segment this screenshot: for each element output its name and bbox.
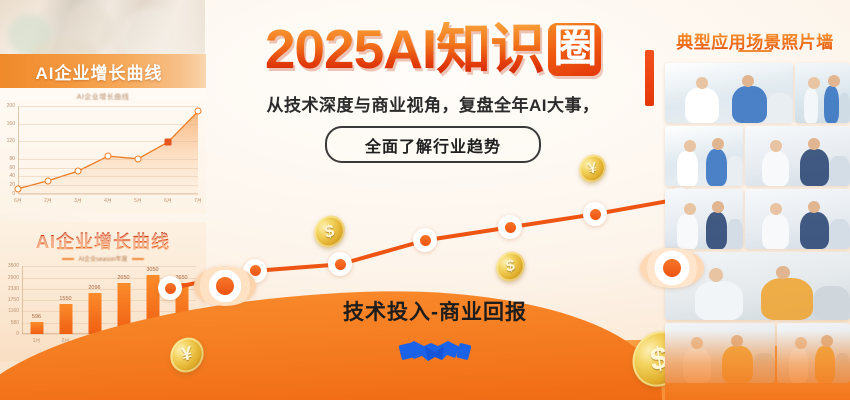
bar-chart-bar: 596 [30, 322, 43, 334]
bar-chart-y-tick: 0 [16, 331, 19, 337]
trend-node-dot [335, 259, 346, 270]
photo-office-analyst[interactable] [745, 126, 850, 186]
photo-subject-body [677, 214, 697, 249]
accent-bar-red [645, 50, 654, 106]
photo-subject-head-2 [828, 75, 840, 87]
photo-subject-head-2 [712, 201, 724, 213]
photo-hospital-equipment[interactable] [665, 126, 743, 186]
cta-button[interactable]: 全面了解行业趋势 [325, 126, 541, 163]
photo-wall-underline [738, 50, 772, 52]
photo-subject-head-2 [808, 201, 820, 213]
photo-equipment [829, 156, 850, 186]
photo-subject-body-2 [761, 278, 813, 320]
decorative-ring-right [640, 248, 704, 288]
photo-wall-orange-veil [665, 330, 850, 400]
bar-chart-y-tick: 580 [11, 320, 19, 326]
photo-subject-body [685, 88, 718, 123]
line-chart-marker [135, 155, 142, 162]
legend-label: AI企业season年度 [78, 257, 127, 263]
photo-subject-body [804, 88, 818, 123]
bar-chart-y-tick: 2900 [8, 275, 19, 281]
line-chart-marker [75, 168, 82, 175]
legend-swatch [62, 258, 74, 260]
trend-node[interactable] [328, 252, 352, 276]
line-chart-y-tick: 60 [9, 165, 15, 171]
line-chart-gridline [18, 106, 198, 107]
line-chart-marker [15, 185, 22, 192]
poster-canvas: AI企业增长曲线 AI企业增长曲线 02040608012016020 [0, 0, 850, 400]
photo-equipment [839, 93, 850, 123]
coin-symbol: ¥ [587, 159, 597, 178]
line-chart-y-tick: 80 [9, 156, 15, 162]
bar-chart-value-label: 2096 [88, 285, 100, 291]
photo-equipment [727, 219, 743, 249]
coin-symbol: ¥ [180, 343, 193, 367]
line-chart-x-tick: 5月 [134, 197, 142, 204]
line-chart-y-tick: 160 [7, 121, 15, 127]
line-chart-gridline [18, 124, 198, 125]
bar-chart-y-tick: 1750 [8, 297, 19, 303]
photo-subject-head [709, 268, 723, 282]
page-title: 2025AI知识圈 [198, 22, 668, 77]
hero-subtitle: 从技术深度与商业视角，复盘全年AI大事， [198, 91, 668, 116]
bar-chart-x-tick: 1月 [33, 337, 41, 344]
photo-subject-body [695, 281, 743, 320]
photo-open-workspace[interactable] [665, 189, 743, 249]
trend-node-dot [420, 235, 431, 246]
line-chart-y-tick: 40 [9, 173, 15, 179]
title-knowledge: 知识 [436, 22, 544, 77]
photo-equipment [829, 219, 850, 249]
ring-dot [216, 277, 234, 295]
trend-node-dot [165, 283, 176, 294]
title-year-ai: 2025AI [265, 22, 436, 77]
line-chart-x-tick: 4月 [104, 197, 112, 204]
bar-chart-y-tick: 3500 [8, 263, 19, 269]
bar-chart-bar: 1550 [59, 304, 72, 334]
decorative-ring-left [194, 266, 256, 306]
trend-node[interactable] [498, 215, 522, 239]
photo-subject-head-2 [808, 138, 820, 150]
legend-swatch-right [132, 258, 144, 260]
title-circle-badge: 圈 [548, 23, 601, 75]
photo-subject-body [762, 214, 789, 249]
trend-node[interactable] [583, 202, 607, 226]
photo-subject-body [677, 151, 697, 186]
line-chart-x-tick: 2月 [44, 197, 52, 204]
bar-chart-bar: 2096 [88, 293, 101, 334]
photo-engineer-laptop[interactable] [745, 189, 850, 249]
photo-subject-head-2 [776, 266, 790, 280]
trend-node-dot [590, 209, 601, 220]
photo-equipment [813, 286, 850, 320]
photo-lab-technician[interactable] [795, 63, 850, 123]
photo-subject-body-2 [706, 212, 728, 249]
photo-subject-body-2 [732, 86, 768, 123]
photo-subject-body-2 [706, 149, 728, 186]
coin-symbol: $ [324, 220, 336, 242]
photo-equipment [767, 93, 793, 123]
photo-subject-body-2 [800, 149, 829, 186]
photo-doctors-briefing[interactable] [665, 63, 793, 123]
line-chart-x-tick: 3月 [74, 197, 82, 204]
trend-node[interactable] [158, 276, 182, 300]
coin-symbol: $ [505, 256, 516, 276]
card-line-chart-caption: AI企业增长曲线 [0, 92, 206, 102]
photo-subject-body [762, 151, 789, 186]
bar-chart-value-label: 596 [32, 314, 41, 320]
handshake-icon [398, 330, 472, 370]
trend-node-dot [505, 222, 516, 233]
line-chart-marker [165, 139, 172, 146]
line-chart-y-tick: 120 [7, 138, 15, 144]
bar-chart-value-label: 1550 [59, 296, 71, 302]
line-chart-y-tick: 200 [7, 103, 15, 109]
photo-equipment [727, 156, 743, 186]
photo-subject-head-2 [742, 75, 754, 87]
card-line-title: AI企业增长曲线 [0, 59, 198, 84]
ring-dot [663, 259, 681, 277]
card-line-band: AI企业增长曲线 [0, 54, 206, 88]
bar-chart-y-tick: 1160 [8, 308, 19, 314]
line-chart-marker [45, 177, 52, 184]
bar-chart-y-tick: 2330 [8, 286, 19, 292]
bottom-caption: 技术投入-商业回报 [300, 296, 570, 326]
bar-chart-value-label: 3050 [146, 267, 158, 273]
bar-chart-value-label: 2650 [117, 275, 129, 281]
trend-node[interactable] [413, 228, 437, 252]
photo-subject-head-2 [712, 138, 724, 150]
hero-block: 2025AI知识圈 从技术深度与商业视角，复盘全年AI大事， 全面了解行业趋势 [198, 22, 668, 163]
line-chart-x-tick: 6月 [14, 197, 22, 204]
photo-subject-body-2 [824, 86, 839, 123]
photo-subject-body-2 [800, 212, 829, 249]
line-chart-marker [105, 153, 112, 160]
